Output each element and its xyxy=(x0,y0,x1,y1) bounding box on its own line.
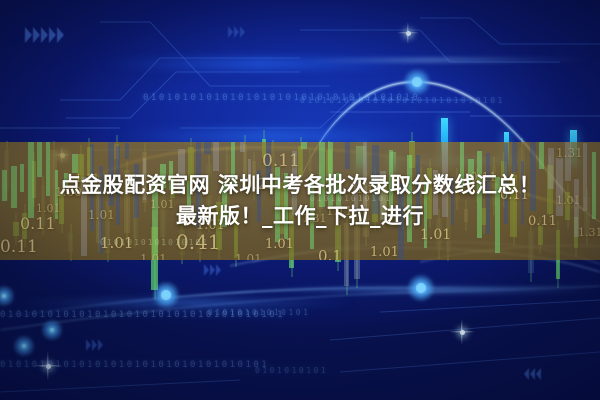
vignette-overlay xyxy=(0,0,600,400)
banner-image: 0101010101010101010101010101010101001010… xyxy=(0,0,600,400)
